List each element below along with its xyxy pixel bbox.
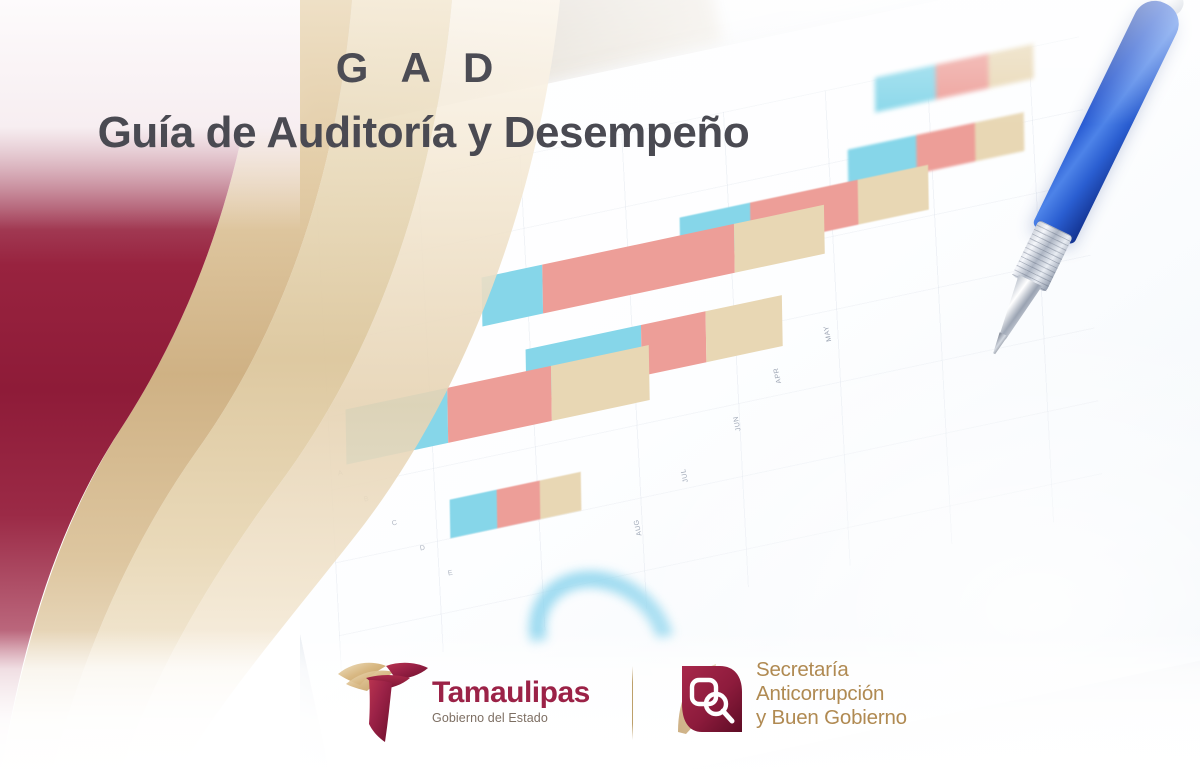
- secretariat-line-1: Secretaría: [756, 658, 907, 682]
- tick-label: JUL: [680, 468, 690, 483]
- secretariat-line-3: y Buen Gobierno: [756, 706, 907, 730]
- pen-cone: [991, 275, 1042, 344]
- tick-label: MAY: [823, 325, 833, 342]
- y-tick-label: E: [447, 570, 453, 578]
- bar-segment-cyan: [875, 65, 936, 113]
- logo-divider: [632, 666, 633, 740]
- cover-page: APR MAY JUN JUL AUG A B C D E: [0, 0, 1200, 780]
- bar-segment-salmon: [542, 224, 735, 314]
- bar-segment-cyan: [450, 490, 498, 539]
- tamaulipas-tagline: Gobierno del Estado: [432, 711, 590, 725]
- tamaulipas-logo: Tamaulipas Gobierno del Estado: [336, 654, 604, 754]
- bar-segment-tan: [988, 44, 1034, 88]
- bar-segment-tan: [975, 112, 1025, 161]
- bar-row: [450, 472, 582, 539]
- tick-label: JUN: [733, 415, 743, 431]
- magnifier-document-icon: [672, 658, 746, 738]
- secretariat-wordmark: Secretaría Anticorrupción y Buen Gobiern…: [756, 658, 907, 730]
- tamaulipas-wordmark: Tamaulipas Gobierno del Estado: [432, 678, 590, 725]
- tamaulipas-t-emblem-icon: [336, 658, 432, 744]
- y-tick-label: D: [419, 545, 425, 553]
- bar-segment-salmon: [497, 481, 541, 529]
- page-title-full: Guía de Auditoría y Desempeño: [0, 108, 847, 158]
- secretariat-line-2: Anticorrupción: [756, 682, 907, 706]
- pen-tip: [990, 332, 1008, 356]
- bar-segment-tan: [706, 295, 783, 362]
- tick-label: AUG: [633, 519, 643, 537]
- bar-segment-salmon: [935, 54, 988, 100]
- y-tick-label: C: [391, 520, 397, 528]
- bar-segment-salmon: [641, 311, 706, 376]
- bar-segment-tan: [540, 472, 582, 519]
- secretariat-logo: Secretaría Anticorrupción y Buen Gobiern…: [672, 650, 972, 754]
- page-title-acronym: G A D: [0, 44, 840, 92]
- bar-segment-salmon: [447, 366, 552, 443]
- tamaulipas-name: Tamaulipas: [432, 678, 590, 708]
- tick-label: APR: [773, 367, 783, 384]
- logo-bar: Tamaulipas Gobierno del Estado: [0, 648, 1200, 758]
- bar-row: [875, 44, 1034, 112]
